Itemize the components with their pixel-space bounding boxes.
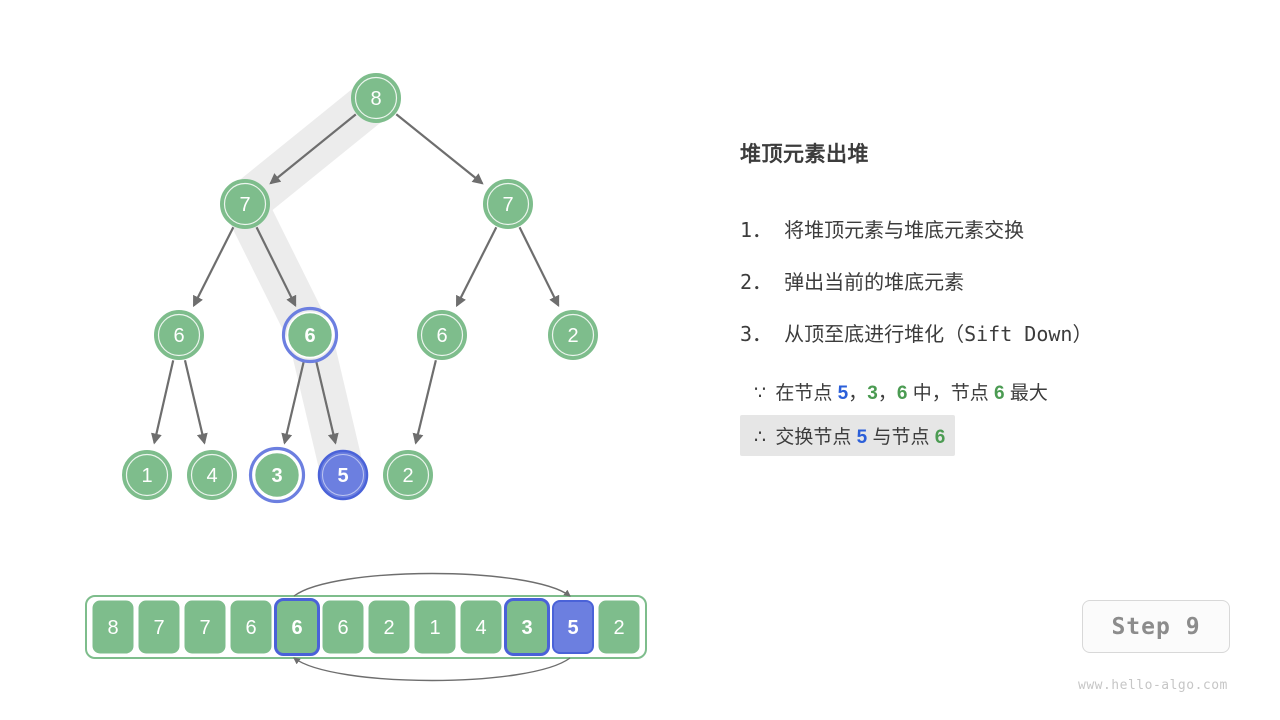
node-value: 6 [173,325,184,347]
reason-text: 与节点 [867,427,935,448]
node-value: 6 [436,325,447,347]
array-cell: 2 [369,601,409,653]
tree-node: 7 [484,180,532,228]
step-item-2: 2． 弹出当前的堆底元素 [740,266,964,295]
heap-diagram-panel: 877666214352 877666214352 [0,0,700,720]
tree-node: 4 [188,451,236,499]
tree-node: 6 [284,309,337,362]
cell-value: 7 [199,617,210,639]
reason-text: ， [848,383,867,404]
status-badge: Step 9 [1082,600,1230,653]
node-value: 3 [271,465,282,487]
cell-value: 2 [613,617,624,639]
reason-symbol: ∴ [754,427,775,448]
reason-symbol: ∵ [754,383,775,404]
reason-text: ， [878,383,897,404]
tree-edge [396,114,482,183]
array-cell: 6 [231,601,271,653]
tree-edge [457,227,496,305]
reason-line-because: ∵ 在节点 5，3，6 中，节点 6 最大 [740,371,1058,412]
value-token-blue: 5 [838,383,849,404]
cell-value: 6 [291,617,302,639]
value-token-green: 6 [897,383,908,404]
array-cell: 3 [506,600,549,655]
tree-edge [185,360,204,443]
array-cell: 6 [276,600,319,655]
node-value: 7 [239,194,250,216]
cell-value: 5 [567,617,578,639]
cell-value: 1 [429,617,440,639]
array-cell: 6 [323,601,363,653]
node-value: 7 [502,194,513,216]
page-title: 堆顶元素出堆 [740,138,869,168]
value-token-blue: 5 [857,427,868,448]
swap-arc-backward [294,658,570,681]
reason-text: 交换节点 [775,427,856,448]
tree-node: 8 [352,74,400,122]
reason-line-therefore: ∴ 交换节点 5 与节点 6 [740,415,955,456]
heap-array-group: 877666214352 [86,596,646,658]
tree-edge [285,360,304,443]
tree-edge [194,227,233,305]
tree-node: 6 [155,311,203,359]
tree-node: 2 [384,451,432,499]
watermark: www.hello-algo.com [1078,678,1228,693]
array-cell: 5 [553,601,593,653]
array-cell: 1 [415,601,455,653]
tree-edge [520,227,559,305]
tree-edge [416,360,436,443]
value-token-green: 6 [935,427,946,448]
step-item-3: 3． 从顶至底进行堆化（Sift Down） [740,318,1092,347]
cell-value: 8 [107,617,118,639]
tree-node: 2 [549,311,597,359]
cell-value: 7 [153,617,164,639]
heap-tree-svg: 877666214352 877666214352 [0,0,700,720]
step-item-1: 1． 将堆顶元素与堆底元素交换 [740,214,1024,243]
cell-value: 6 [245,617,256,639]
tree-edge-group [154,114,558,443]
array-cell: 4 [461,601,501,653]
node-value: 2 [567,325,578,347]
array-cell: 7 [139,601,179,653]
tree-node: 3 [251,449,304,502]
sift-down-highlight-path [245,98,376,475]
node-value: 2 [402,465,413,487]
tree-node: 5 [319,451,367,499]
array-cell: 8 [93,601,133,653]
cell-value: 2 [383,617,394,639]
value-token-green: 3 [867,383,878,404]
reason-text: 在节点 [775,383,837,404]
node-value: 5 [337,465,348,487]
reason-text: 中，节点 [907,383,994,404]
cell-value: 3 [521,617,532,639]
tree-node: 6 [418,311,466,359]
tree-node: 7 [221,180,269,228]
array-cell: 2 [599,601,639,653]
node-value: 4 [206,465,217,487]
node-value: 1 [141,465,152,487]
swap-arc-forward [294,574,570,597]
array-cell: 7 [185,601,225,653]
cell-value: 6 [337,617,348,639]
value-token-green: 6 [994,383,1005,404]
node-value: 8 [370,88,381,110]
reason-text: 最大 [1005,383,1048,404]
node-value: 6 [304,325,315,347]
tree-node: 1 [123,451,171,499]
cell-value: 4 [475,617,486,639]
tree-edge [154,360,173,442]
